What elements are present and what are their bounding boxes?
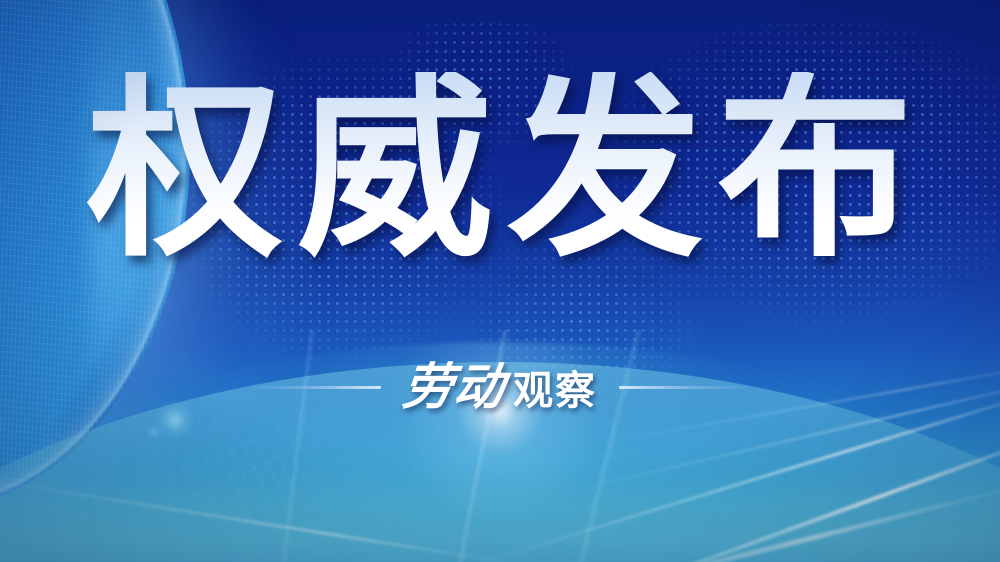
brand-cursive-text: 劳动 bbox=[400, 362, 508, 412]
brand-logo: 劳动 观察 bbox=[403, 362, 597, 412]
authority-release-banner: 权威发布 劳动 观察 bbox=[0, 0, 1000, 562]
banner-content: 权威发布 bbox=[0, 0, 1000, 562]
divider-line-left bbox=[249, 386, 381, 389]
banner-title: 权威发布 bbox=[73, 72, 927, 268]
brand-regular-text: 观察 bbox=[513, 371, 597, 411]
brand-row: 劳动 观察 bbox=[0, 362, 1000, 412]
divider-line-right bbox=[619, 386, 751, 389]
